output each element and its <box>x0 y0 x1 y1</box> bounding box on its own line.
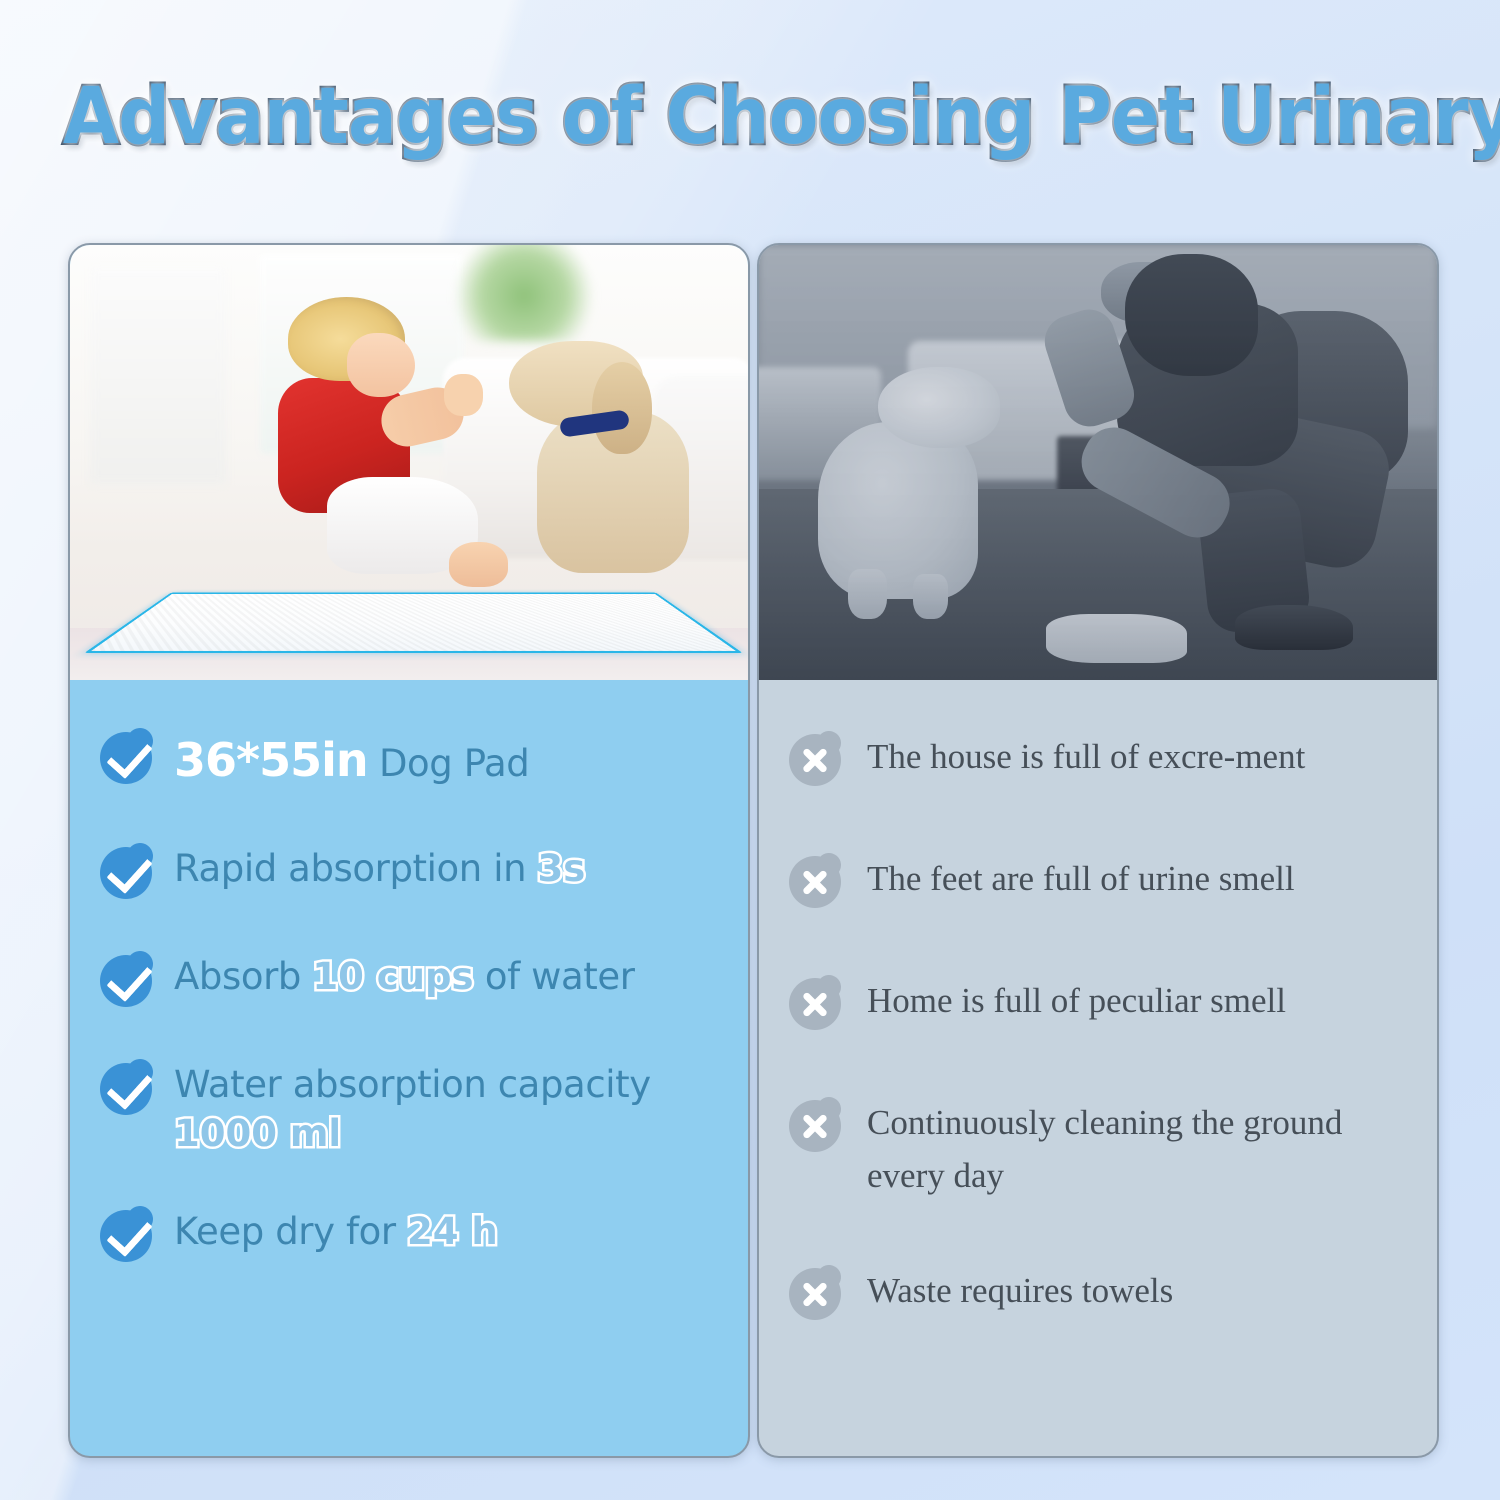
list-item: Keep dry for 24 h <box>100 1206 726 1266</box>
pros-highlight: 24 h <box>407 1210 498 1253</box>
page-title-wrap: Advantages of Choosing Pet Urinary Mats <box>0 78 1500 156</box>
cons-item-text: Continuously cleaning the ground every d… <box>867 1094 1387 1202</box>
list-item: The house is full of excre-ment <box>789 728 1419 790</box>
blue-monochrome-tint <box>759 245 1437 680</box>
toddler-face <box>347 333 415 397</box>
pros-card: 36*55in Dog Pad Rapid absorption in 3s A… <box>68 243 750 1458</box>
check-icon <box>100 732 156 788</box>
list-item: 36*55in Dog Pad <box>100 728 726 791</box>
list-item: The feet are full of urine smell <box>789 850 1419 912</box>
pros-item-text: Rapid absorption in 3s <box>174 843 585 894</box>
x-icon <box>789 734 845 790</box>
x-icon <box>789 1268 845 1324</box>
pros-text-before: Keep dry for <box>174 1210 407 1253</box>
list-item: Water absorption capacity 1000 ml <box>100 1059 726 1159</box>
cons-list: The house is full of excre-ment The feet… <box>759 680 1437 1452</box>
cons-card: The house is full of excre-ment The feet… <box>757 243 1439 1458</box>
pros-text-after: Dog Pad <box>368 742 530 785</box>
page-title: Advantages of Choosing Pet Urinary Mats <box>63 78 1500 156</box>
puppy-ear <box>592 362 652 454</box>
cons-item-text: The house is full of excre-ment <box>867 728 1305 783</box>
x-icon <box>789 978 845 1034</box>
infographic-page: Advantages of Choosing Pet Urinary Mats <box>0 0 1500 1500</box>
cons-item-text: The feet are full of urine smell <box>867 850 1295 905</box>
check-icon <box>100 1063 156 1119</box>
pros-item-text: 36*55in Dog Pad <box>174 728 529 791</box>
cons-item-text: Home is full of peculiar smell <box>867 972 1286 1027</box>
pros-item-text: Keep dry for 24 h <box>174 1206 498 1257</box>
window-blur-left <box>90 267 226 485</box>
pros-text-before: Rapid absorption in <box>174 847 537 890</box>
check-icon <box>100 847 156 903</box>
pros-text-after: of water <box>474 955 635 998</box>
list-item: Absorb 10 cups of water <box>100 951 726 1011</box>
pros-highlight: 10 cups <box>312 955 473 998</box>
cons-item-text: Waste requires towels <box>867 1262 1173 1317</box>
list-item: Waste requires towels <box>789 1262 1419 1324</box>
check-icon <box>100 955 156 1011</box>
pros-item-text: Water absorption capacity 1000 ml <box>174 1059 726 1159</box>
x-icon <box>789 856 845 912</box>
list-item: Continuously cleaning the ground every d… <box>789 1094 1419 1202</box>
puppy-figure <box>477 341 708 611</box>
pros-item-text: Absorb 10 cups of water <box>174 951 635 1002</box>
pros-text-before: Absorb <box>174 955 312 998</box>
pros-highlight: 1000 ml <box>174 1112 341 1155</box>
pros-list: 36*55in Dog Pad Rapid absorption in 3s A… <box>70 680 748 1452</box>
x-icon <box>789 1100 845 1156</box>
check-icon <box>100 1210 156 1266</box>
pros-text-before: Water absorption capacity <box>174 1063 651 1106</box>
list-item: Home is full of peculiar smell <box>789 972 1419 1034</box>
pros-highlight: 36*55in <box>174 733 368 787</box>
child-with-puppy-photo <box>70 245 748 680</box>
woman-cleaning-floor-photo <box>759 245 1437 680</box>
list-item: Rapid absorption in 3s <box>100 843 726 903</box>
pros-highlight: 3s <box>537 847 585 890</box>
